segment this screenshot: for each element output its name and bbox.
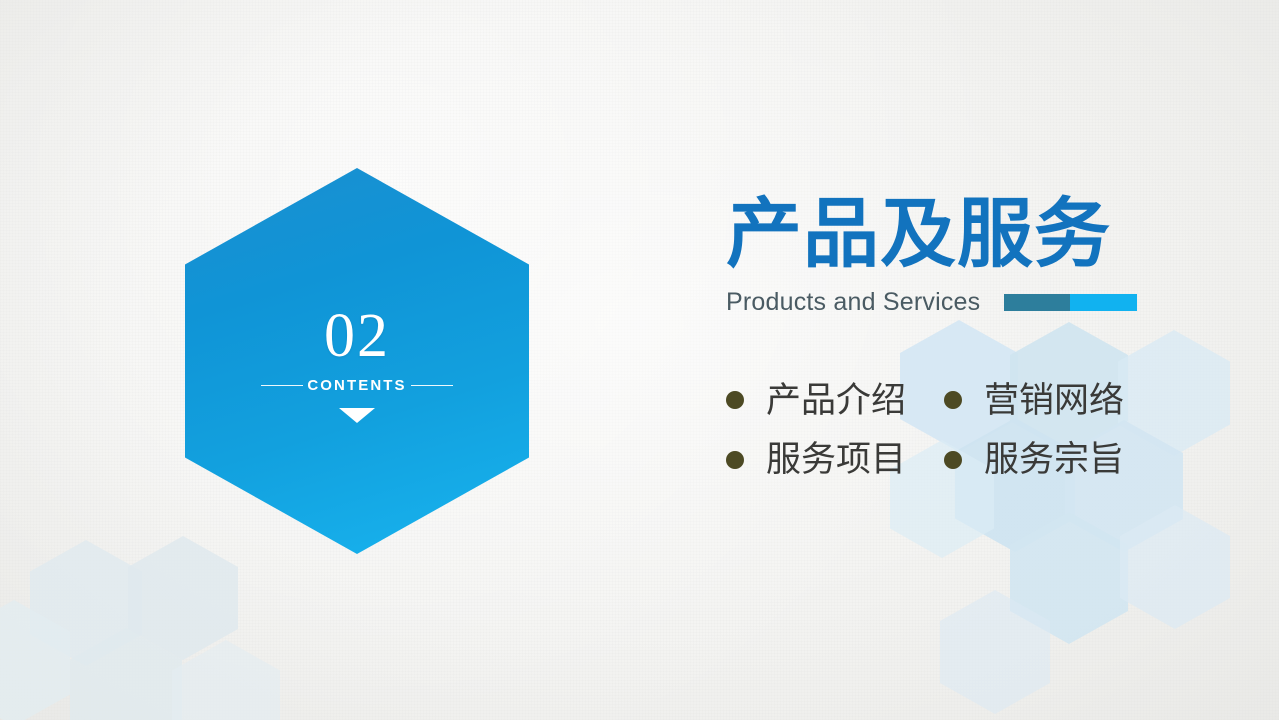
decorative-hexagon (1010, 512, 1128, 644)
badge-content: 02 CONTENTS (185, 168, 529, 554)
decorative-hexagon (70, 628, 182, 720)
accent-bar (1004, 294, 1137, 311)
decorative-hexagon (128, 536, 238, 660)
list-item-label: 服务项目 (766, 438, 906, 482)
page-subtitle: Products and Services (726, 288, 980, 317)
contents-hexagon-badge: 02 CONTENTS (185, 168, 529, 554)
rule-left (261, 385, 303, 386)
contents-row: CONTENTS (261, 377, 453, 394)
accent-bar-right (1070, 294, 1137, 311)
list-item-label: 营销网络 (984, 379, 1124, 423)
contents-label: CONTENTS (303, 377, 410, 394)
subtitle-row: Products and Services (726, 288, 1246, 317)
list-item[interactable]: 服务宗旨 (944, 438, 1162, 482)
down-triangle-icon (339, 408, 375, 423)
list-item[interactable]: 服务项目 (726, 438, 944, 482)
list-item-label: 产品介绍 (766, 379, 906, 423)
list-item[interactable]: 产品介绍 (726, 379, 944, 423)
decorative-hexagon (940, 590, 1050, 714)
decorative-hexagon (1120, 505, 1230, 629)
list-item-label: 服务宗旨 (984, 438, 1124, 482)
accent-bar-left (1004, 294, 1070, 311)
page-title: 产品及服务 (726, 196, 1246, 274)
decorative-hexagon (0, 600, 70, 720)
slide-canvas: 02 CONTENTS 产品及服务 Products and Services … (0, 0, 1279, 720)
bullet-dot-icon (726, 451, 744, 469)
rule-right (411, 385, 453, 386)
list-item[interactable]: 营销网络 (944, 379, 1162, 423)
decorative-hexagon (172, 640, 280, 720)
bullet-dot-icon (726, 391, 744, 409)
decorative-hexagon (30, 540, 142, 666)
section-number: 02 (324, 305, 390, 367)
agenda-list: 产品介绍 营销网络 服务项目 服务宗旨 (726, 379, 1246, 483)
bullet-dot-icon (944, 451, 962, 469)
section-content: 产品及服务 Products and Services 产品介绍 营销网络 服务… (726, 196, 1246, 482)
bullet-dot-icon (944, 391, 962, 409)
